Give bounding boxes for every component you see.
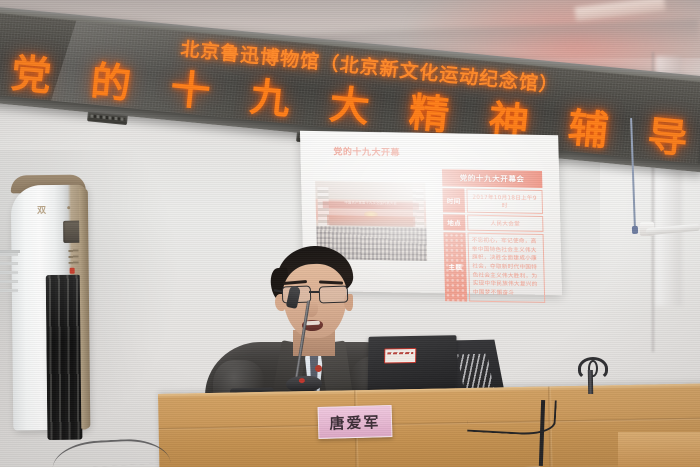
- glasses-bridge: [309, 291, 319, 293]
- table-row: 主题 不忘初心，牢记使命，高举中国特色社会主义伟大旗帜，决胜全面建成小康社会，夺…: [443, 232, 545, 302]
- table-row: 地点 人民大会堂: [443, 214, 543, 232]
- laptop-asset-sticker: [384, 348, 416, 364]
- ac-vent-highlight: [46, 275, 83, 440]
- nameplate-text: 唐爱军: [329, 411, 381, 433]
- slide-title: 党的十九大开幕: [333, 144, 400, 158]
- ac-air-vent: [46, 275, 83, 440]
- photo-caption: 中国共产党第十九次全国代表大会: [322, 199, 419, 206]
- table-row: 时间 2017年10月18日上午9时: [442, 188, 543, 214]
- slide-table: 党的十九大开幕会 时间 2017年10月18日上午9时 地点 人民大会堂 主题 …: [442, 169, 545, 302]
- table-key-theme: 主题: [443, 232, 467, 301]
- ac-logo: 双: [37, 203, 47, 216]
- podium-seam: [159, 417, 700, 430]
- wall-rail-bar: [0, 250, 20, 253]
- table-value-theme: 不忘初心，牢记使命，高举中国特色社会主义伟大旗帜，决胜全面建成小康社会，夺取新时…: [467, 233, 545, 303]
- ac-brand-mark: ●: [67, 205, 71, 210]
- microphone-clip: [578, 357, 608, 380]
- lapel-mic: [315, 365, 322, 372]
- led-mount-bracket: [87, 111, 128, 125]
- photo-stage: [327, 215, 415, 226]
- ac-control-buttons[interactable]: [68, 248, 78, 264]
- table-value-time: 2017年10月18日上午9时: [466, 189, 543, 214]
- slide-table-header: 党的十九大开幕会: [442, 169, 542, 188]
- air-conditioner: 双 ●: [11, 175, 89, 431]
- ac-body: 双 ●: [11, 185, 89, 431]
- table-key-place: 地点: [443, 214, 465, 230]
- microphone-holder: [588, 370, 593, 394]
- laptop-vents: [457, 354, 494, 388]
- wall-rail: [0, 248, 18, 292]
- table-value-place: 人民大会堂: [467, 215, 543, 232]
- speaker-nameplate: 唐爱军: [318, 405, 393, 439]
- ac-power-led: [70, 268, 75, 274]
- lecture-hall-photo: 北京鲁迅博物馆（北京新文化运动纪念馆） 党 的 十 九 大 精 神 辅 导 讲 …: [0, 0, 700, 467]
- lens-right: [319, 285, 349, 303]
- podium-front-block: [618, 432, 700, 467]
- table-key-time: 时间: [442, 188, 465, 212]
- photo-banner: 中国共产党第十九次全国代表大会: [322, 201, 419, 209]
